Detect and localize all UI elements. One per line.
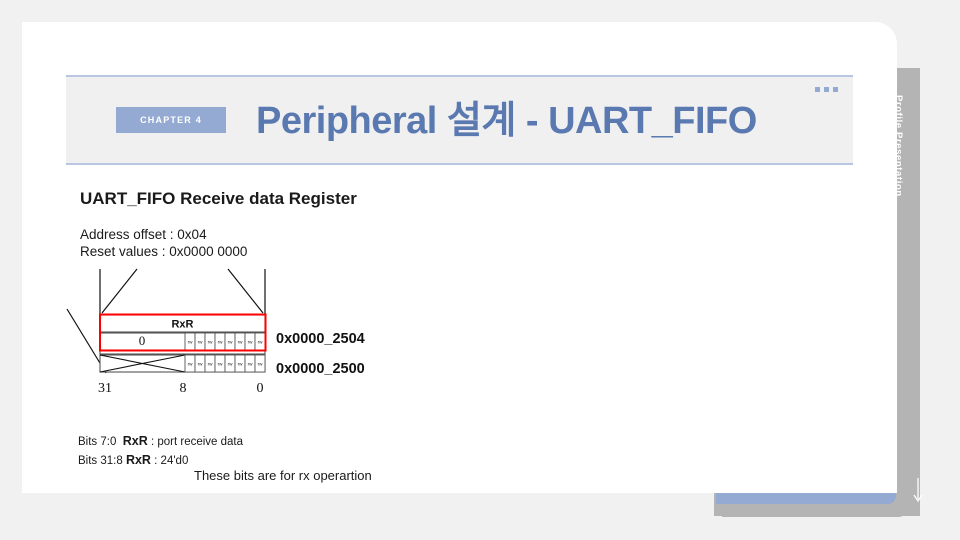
svg-text:rw: rw [228, 362, 234, 367]
note-row-0: Bits 7:0 RxR : port receive data [78, 433, 243, 452]
rxr-wide-value: 0 [139, 333, 146, 348]
svg-text:rw: rw [188, 340, 194, 345]
svg-text:rw: rw [238, 340, 244, 345]
svg-text:rw: rw [238, 362, 244, 367]
page-title: Peripheral 설계 - UART_FIFO [256, 89, 757, 144]
more-options-dots-icon[interactable] [815, 87, 838, 92]
svg-text:rw: rw [208, 362, 214, 367]
note-desc-0: : port receive data [151, 436, 243, 448]
rxr-address-label: 0x0000_2504 [276, 331, 365, 347]
dot-3 [833, 87, 838, 92]
reset-values-line: Reset values : 0x0000 0000 [80, 243, 247, 260]
svg-text:0: 0 [257, 381, 264, 396]
svg-text:rw: rw [198, 340, 204, 345]
svg-text:rw: rw [218, 340, 224, 345]
svg-text:rw: rw [228, 340, 234, 345]
rxr-row-name: RxR [171, 319, 193, 331]
txr-address-label: 0x0000_2500 [276, 361, 365, 377]
svg-text:rw: rw [188, 362, 194, 367]
bit-index-labels: 31 8 0 [98, 381, 264, 396]
note-field-0: RxR [123, 434, 148, 448]
note-bits-0: Bits 7:0 [78, 436, 116, 448]
presentation-viewer: Profile Presentation CHAPTER 4 Periphera… [0, 0, 960, 540]
bit-field-note-extra: These bits are for rx operartion [194, 468, 372, 483]
slide-canvas: CHAPTER 4 Peripheral 설계 - UART_FIFO UART… [22, 22, 897, 493]
chapter-badge: CHAPTER 4 [116, 107, 226, 133]
arrow-down-icon[interactable] [911, 478, 925, 504]
note-desc-1: : 24'd0 [154, 455, 188, 467]
svg-text:rw: rw [248, 340, 254, 345]
svg-text:rw: rw [198, 362, 204, 367]
svg-text:rw: rw [258, 340, 264, 345]
txr-bit-cells: rw rw rw rw rw rw rw rw [185, 355, 265, 372]
address-offset-line: Address offset : 0x04 [80, 226, 247, 243]
svg-text:8: 8 [180, 381, 187, 396]
svg-text:31: 31 [98, 381, 112, 396]
rxr-row-group: RxR 0 rw rw rw rw rw [100, 315, 265, 350]
note-field-1: RxR [126, 453, 151, 467]
svg-text:rw: rw [248, 362, 254, 367]
note-bits-1: Bits 31:8 [78, 455, 123, 467]
register-bitfield-diagram: TxR rw rw rw rw [62, 267, 442, 407]
svg-text:rw: rw [258, 362, 264, 367]
section-heading: UART_FIFO Receive data Register [80, 189, 357, 209]
svg-text:rw: rw [218, 362, 224, 367]
register-meta: Address offset : 0x04 Reset values : 0x0… [80, 226, 247, 260]
dot-2 [824, 87, 829, 92]
slide-header-band: CHAPTER 4 Peripheral 설계 - UART_FIFO [66, 75, 853, 165]
register-diagram-svg: TxR rw rw rw rw [62, 267, 442, 407]
rxr-bit-cells: rw rw rw rw rw rw rw rw [185, 333, 265, 350]
dot-1 [815, 87, 820, 92]
svg-text:rw: rw [208, 340, 214, 345]
bit-field-notes: Bits 7:0 RxR : port receive data Bits 31… [78, 433, 243, 470]
